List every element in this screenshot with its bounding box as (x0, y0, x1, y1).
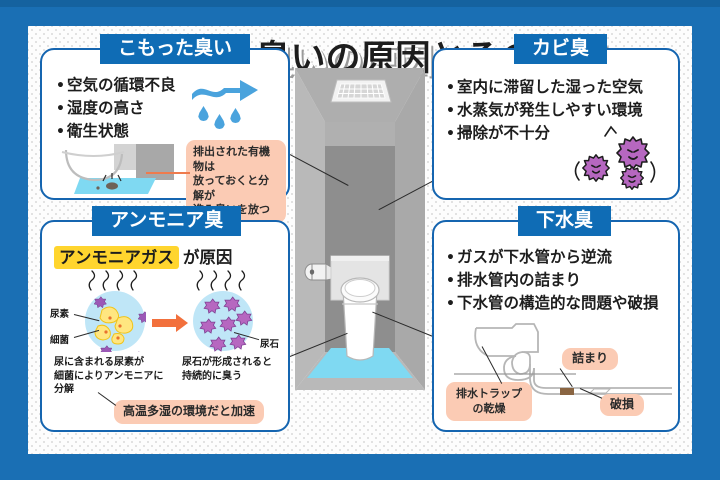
ammonia-footer-callout: 高温多湿の環境だと加速 (114, 400, 264, 424)
card-komotta-ribbon: こもった臭い (100, 34, 250, 64)
odor-wave-icon (194, 270, 256, 292)
card-kabi-ribbon: カビ臭 (514, 34, 607, 64)
odor-wave-icon (86, 270, 148, 292)
list-item: 衛生状態 (56, 120, 175, 143)
callout-leader-line (146, 172, 190, 174)
ammonia-right-caption: 尿石が形成されると 持続的に臭う (182, 356, 290, 383)
gesui-callout-clog: 詰まり (562, 348, 618, 370)
card-gesui: 下水臭 ガスが下水管から逆流 排水管内の詰まり 下水管の構造的な問題や破損 (432, 220, 680, 432)
card-gesui-ribbon: 下水臭 (518, 206, 611, 236)
list-item: 排水管内の詰まり (446, 269, 658, 292)
card-gesui-bullets: ガスが下水管から逆流 排水管内の詰まり 下水管の構造的な問題や破損 (446, 246, 658, 315)
mold-character-icon (582, 154, 610, 182)
ceiling-vent-icon (331, 80, 391, 102)
list-item: 下水管の構造的な問題や破損 (446, 292, 658, 315)
mold-character-icon (616, 136, 650, 170)
card-ammonia-ribbon: アンモニア臭 (92, 206, 241, 236)
poster-canvas: トイレの臭いの原因とその種類 (28, 26, 692, 454)
airflow-arrow-icon (190, 74, 262, 104)
water-drop-icon (214, 114, 225, 129)
mold-accent-icon (648, 160, 660, 184)
water-drop-icon (230, 108, 241, 123)
ammonia-headline-rest: が原因 (183, 248, 233, 267)
toilet-paper-holder-icon (305, 264, 331, 280)
gesui-callout-trap: 排水トラップ の乾燥 (446, 382, 532, 421)
mold-character-icon (620, 166, 644, 190)
list-item: 室内に滞留した湿った空気 (446, 76, 643, 99)
urine-stone-bubble-icon (192, 290, 254, 352)
card-komotta: こもった臭い 空気の循環不良 湿度の高さ 衛生状態 (40, 48, 290, 200)
urea-bacteria-bubble-icon (84, 290, 146, 352)
water-drop-icon (198, 106, 209, 121)
list-item: 湿度の高さ (56, 97, 175, 120)
card-ammonia: アンモニア臭 アンモニアガスが原因 (40, 220, 290, 432)
gesui-callout-break: 破損 (600, 394, 644, 416)
poster-frame: トイレの臭いの原因とその種類 (0, 0, 720, 480)
mold-accent-icon (570, 160, 582, 182)
card-komotta-bullets: 空気の循環不良 湿度の高さ 衛生状態 (56, 74, 175, 143)
toilet-bowl-illustration (60, 144, 174, 194)
mold-accent-icon (602, 124, 618, 140)
list-item: 水蒸気が発生しやすい環境 (446, 99, 643, 122)
card-kabi: カビ臭 室内に滞留した湿った空気 水蒸気が発生しやすい環境 掃除が不十分 (432, 48, 680, 200)
ammonia-gas-highlight: アンモニアガス (54, 246, 179, 269)
list-item: 空気の循環不良 (56, 74, 175, 97)
toilet-room-illustration (287, 60, 433, 430)
right-arrow-icon (152, 314, 188, 332)
label-bacteria: 細菌 (50, 332, 69, 346)
ammonia-left-caption: 尿に含まれる尿素が 細菌によりアンモニアに 分解 (54, 356, 174, 397)
label-urine-stone: 尿石 (260, 336, 279, 350)
list-item: ガスが下水管から逆流 (446, 246, 658, 269)
ammonia-headline: アンモニアガスが原因 (54, 244, 232, 268)
label-urea: 尿素 (50, 306, 69, 320)
